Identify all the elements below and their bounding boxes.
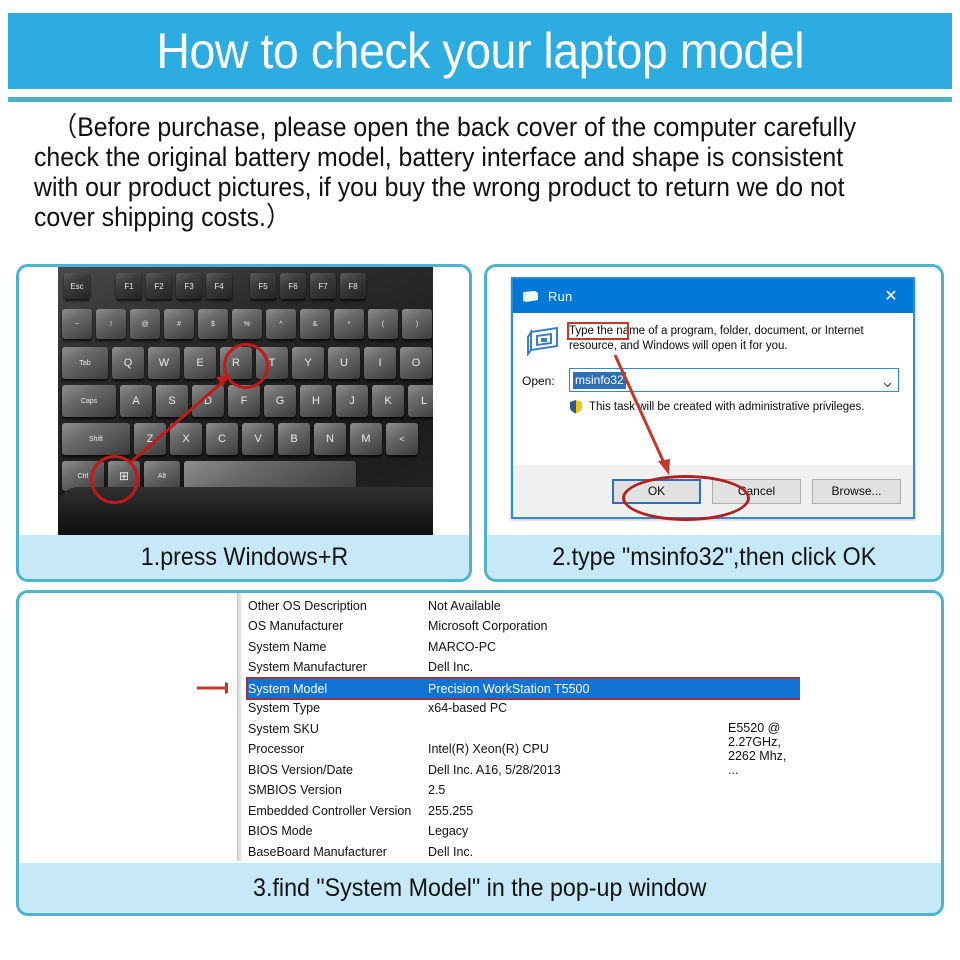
arrow-to-system-model-row xyxy=(19,593,228,861)
row-name: Other OS Description xyxy=(248,599,428,613)
page-title: How to check your laptop model xyxy=(156,22,804,80)
sysinfo-tree-divider xyxy=(237,593,242,861)
step-1-image: Esc F1 F2 F3 F4 F5 F6 F7 F8 ~ ! @ xyxy=(19,267,469,539)
row-name: Embedded Controller Version xyxy=(248,804,428,818)
step-3-image: Other OS DescriptionNot AvailableOS Manu… xyxy=(19,593,941,865)
step-2-caption-text: 2.type "msinfo32",then click OK xyxy=(552,543,876,572)
intro-paragraph: （Before purchase, please open the back c… xyxy=(34,112,862,232)
step-panel-2: Run ✕ Type the name of a program, folder… xyxy=(484,264,944,582)
header-banner: How to check your laptop model xyxy=(8,13,952,89)
row-name: System SKU xyxy=(248,722,428,736)
row-value: 255.255 xyxy=(428,804,800,818)
table-row[interactable]: ProcessorIntel(R) Xeon(R) CPUE5520 @ 2.2… xyxy=(248,739,800,760)
keyboard-photo: Esc F1 F2 F3 F4 F5 F6 F7 F8 ~ ! @ xyxy=(58,267,433,535)
step-2-caption: 2.type "msinfo32",then click OK xyxy=(487,535,941,579)
run-dialog-window: Run ✕ Type the name of a program, folder… xyxy=(511,277,915,519)
row-name: BIOS Version/Date xyxy=(248,763,428,777)
row-value: x64-based PC xyxy=(428,701,800,715)
step-panel-1: Esc F1 F2 F3 F4 F5 F6 F7 F8 ~ ! @ xyxy=(16,264,472,582)
step-2-image: Run ✕ Type the name of a program, folder… xyxy=(487,267,941,539)
row-value: Precision WorkStation T5500 xyxy=(428,682,800,696)
table-row[interactable]: System Typex64-based PC xyxy=(248,698,800,719)
infographic-page: How to check your laptop model （Before p… xyxy=(0,0,960,960)
table-row[interactable]: BIOS ModeLegacy xyxy=(248,821,800,842)
table-row[interactable]: System ManufacturerDell Inc. xyxy=(248,657,800,678)
row-name: System Model xyxy=(248,682,428,696)
row-value: Not Available xyxy=(428,599,800,613)
table-row[interactable]: System NameMARCO-PC xyxy=(248,636,800,657)
row-name: Processor xyxy=(248,742,428,756)
arrow-windows-to-r xyxy=(58,267,433,535)
table-row[interactable]: BIOS Version/DateDell Inc. A16, 5/28/201… xyxy=(248,759,800,780)
row-value: Dell Inc. xyxy=(428,660,800,674)
table-row[interactable]: SMBIOS Version2.5 xyxy=(248,780,800,801)
step-3-caption: 3.find "System Model" in the pop-up wind… xyxy=(19,863,941,913)
row-name: System Name xyxy=(248,640,428,654)
step-1-caption-text: 1.press Windows+R xyxy=(140,543,347,572)
row-value: Microsoft Corporation xyxy=(428,619,800,633)
row-name: System Type xyxy=(248,701,428,715)
row-name: System Manufacturer xyxy=(248,660,428,674)
row-value: Legacy xyxy=(428,824,800,838)
table-row[interactable]: Embedded Controller Version255.255 xyxy=(248,800,800,821)
step-1-caption: 1.press Windows+R xyxy=(19,535,469,579)
header-divider xyxy=(8,97,952,102)
row-value: Intel(R) Xeon(R) CPU xyxy=(428,742,728,756)
row-value: Dell Inc. xyxy=(428,845,800,859)
table-row[interactable]: BaseBoard ManufacturerDell Inc. xyxy=(248,841,800,861)
table-row[interactable]: Other OS DescriptionNot Available xyxy=(248,595,800,616)
row-value: 2.5 xyxy=(428,783,800,797)
row-value: Dell Inc. A16, 5/28/2013 xyxy=(428,763,800,777)
row-name: BaseBoard Manufacturer xyxy=(248,845,428,859)
arrow-to-ok-button xyxy=(513,279,917,521)
table-row[interactable]: OS ManufacturerMicrosoft Corporation xyxy=(248,616,800,637)
table-row[interactable]: System SKU xyxy=(248,718,800,739)
row-name: OS Manufacturer xyxy=(248,619,428,633)
row-value: MARCO-PC xyxy=(428,640,800,654)
row-name: SMBIOS Version xyxy=(248,783,428,797)
step-3-caption-text: 3.find "System Model" in the pop-up wind… xyxy=(253,874,706,903)
system-information-window: Other OS DescriptionNot AvailableOS Manu… xyxy=(228,593,800,861)
step-panel-3: Other OS DescriptionNot AvailableOS Manu… xyxy=(16,590,944,916)
row-name: BIOS Mode xyxy=(248,824,428,838)
